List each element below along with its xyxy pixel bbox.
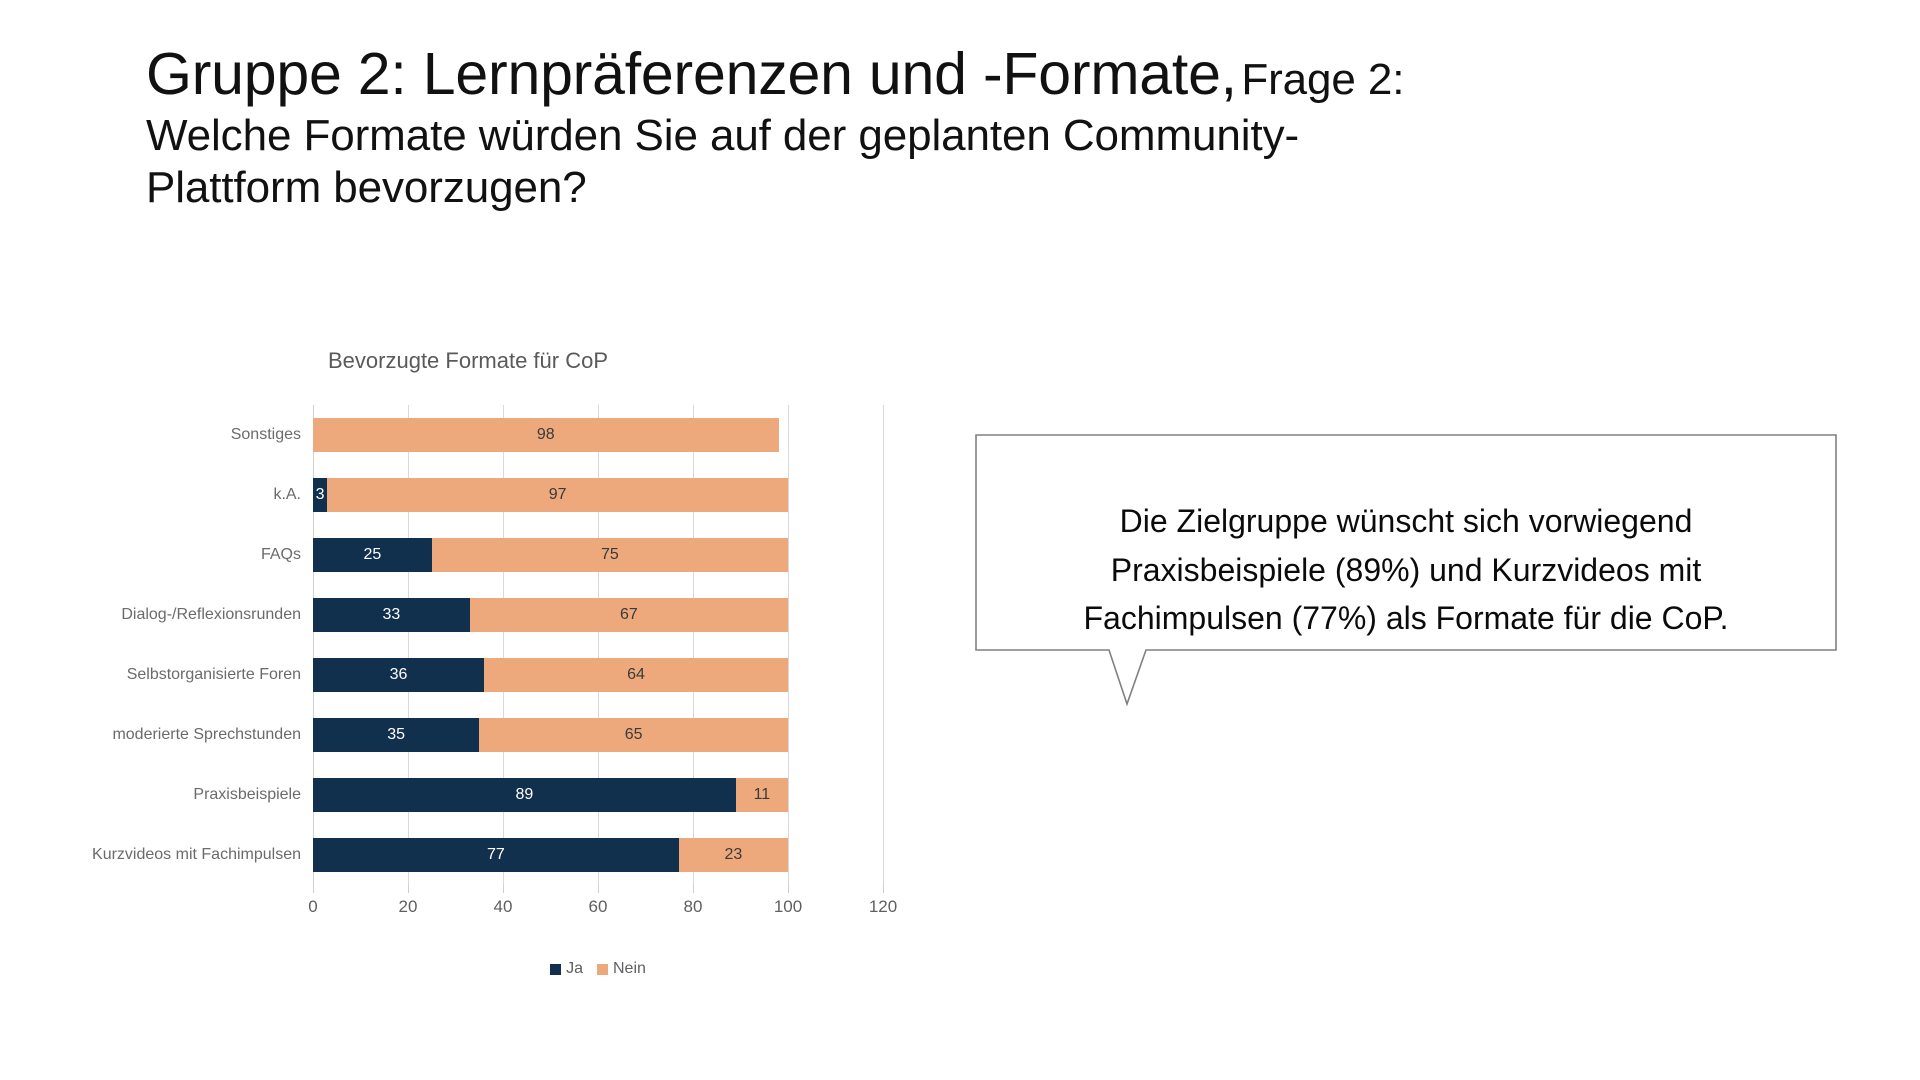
x-tick-label: 20 xyxy=(399,897,418,917)
legend-label: Ja xyxy=(566,960,583,978)
x-tick-mark xyxy=(693,885,694,893)
x-tick-label: 120 xyxy=(869,897,897,917)
bar-segment-ja[interactable]: 33 xyxy=(313,598,470,632)
bar-segment-ja[interactable]: 36 xyxy=(313,658,484,692)
bar-category-label: Dialog-/Reflexionsrunden xyxy=(121,606,301,624)
bar-value-label: 35 xyxy=(387,726,405,744)
bar-row[interactable]: Sonstiges098 xyxy=(313,418,883,452)
bar-value-label: 77 xyxy=(487,846,505,864)
bar-segment-nein[interactable]: 11 xyxy=(736,778,788,812)
bar-category-label: FAQs xyxy=(261,546,301,564)
title-line-3: Plattform bevorzugen? xyxy=(146,162,1786,214)
callout-box: Die Zielgruppe wünscht sich vorwiegend P… xyxy=(975,434,1837,714)
bar-row[interactable]: FAQs2575 xyxy=(313,538,883,572)
chart-title: Bevorzugte Formate für CoP xyxy=(328,348,608,374)
bar-category-label: Kurzvideos mit Fachimpulsen xyxy=(92,846,301,864)
bar-row[interactable]: Selbstorganisierte Foren3664 xyxy=(313,658,883,692)
bar-value-label: 23 xyxy=(724,846,742,864)
bar-row[interactable]: Praxisbeispiele8911 xyxy=(313,778,883,812)
x-tick-mark xyxy=(503,885,504,893)
bar-value-label: 97 xyxy=(549,486,567,504)
bar-value-label: 33 xyxy=(382,606,400,624)
bar-category-label: Praxisbeispiele xyxy=(193,786,301,804)
bar-segment-nein[interactable]: 65 xyxy=(479,718,788,752)
title-line-2: Welche Formate würden Sie auf der geplan… xyxy=(146,110,1786,162)
title-main-text: Gruppe 2: Lernpräferenzen und -Formate, xyxy=(146,41,1237,107)
bar-segment-nein[interactable]: 67 xyxy=(470,598,788,632)
legend-item-nein[interactable]: Nein xyxy=(597,960,646,978)
chart-plot-area: Sonstiges098k.A.397FAQs2575Dialog-/Refle… xyxy=(313,405,883,885)
gridline-40 xyxy=(503,405,504,885)
gridline-120 xyxy=(883,405,884,885)
bar-value-label: 3 xyxy=(316,486,325,504)
legend-item-ja[interactable]: Ja xyxy=(550,960,583,978)
callout-text: Die Zielgruppe wünscht sich vorwiegend P… xyxy=(1031,462,1781,678)
page-title: Gruppe 2: Lernpräferenzen und -Formate, … xyxy=(146,40,1786,213)
bar-row[interactable]: Dialog-/Reflexionsrunden3367 xyxy=(313,598,883,632)
callout-line-3: Fachimpulsen (77%) als Formate für die C… xyxy=(1083,594,1728,643)
gridline-60 xyxy=(598,405,599,885)
x-tick-label: 80 xyxy=(684,897,703,917)
x-tick-mark xyxy=(788,885,789,893)
bar-value-label: 65 xyxy=(625,726,643,744)
callout-line-1: Die Zielgruppe wünscht sich vorwiegend xyxy=(1120,497,1693,546)
x-tick-mark xyxy=(883,885,884,893)
x-tick-label: 0 xyxy=(308,897,317,917)
bar-segment-nein[interactable]: 98 xyxy=(313,418,779,452)
bar-row[interactable]: Kurzvideos mit Fachimpulsen7723 xyxy=(313,838,883,872)
bar-segment-ja[interactable]: 89 xyxy=(313,778,736,812)
gridline-100 xyxy=(788,405,789,885)
x-tick-mark xyxy=(598,885,599,893)
bar-segment-nein[interactable]: 23 xyxy=(679,838,788,872)
gridline-20 xyxy=(408,405,409,885)
x-tick-label: 100 xyxy=(774,897,802,917)
bar-value-label: 11 xyxy=(754,786,771,804)
bar-value-label: 67 xyxy=(620,606,638,624)
bar-value-label: 36 xyxy=(390,666,408,684)
gridline-0 xyxy=(313,405,314,885)
bar-row[interactable]: moderierte Sprechstunden3565 xyxy=(313,718,883,752)
legend-label: Nein xyxy=(613,960,646,978)
title-question-text: Frage 2: xyxy=(1241,55,1404,104)
x-tick-mark xyxy=(313,885,314,893)
bar-segment-nein[interactable]: 75 xyxy=(432,538,788,572)
x-tick-label: 60 xyxy=(589,897,608,917)
bar-category-label: k.A. xyxy=(273,486,301,504)
bar-value-label: 64 xyxy=(627,666,645,684)
bar-segment-nein[interactable]: 97 xyxy=(327,478,788,512)
bar-segment-ja[interactable]: 77 xyxy=(313,838,679,872)
bar-segment-ja[interactable]: 35 xyxy=(313,718,479,752)
x-tick-mark xyxy=(408,885,409,893)
gridline-80 xyxy=(693,405,694,885)
bar-category-label: moderierte Sprechstunden xyxy=(112,726,301,744)
bar-segment-ja[interactable]: 25 xyxy=(313,538,432,572)
bar-value-label: 75 xyxy=(601,546,619,564)
chart-x-axis: 020406080100120 xyxy=(313,885,883,925)
bar-row[interactable]: k.A.397 xyxy=(313,478,883,512)
callout-line-2: Praxisbeispiele (89%) und Kurzvideos mit xyxy=(1111,546,1701,595)
x-tick-label: 40 xyxy=(494,897,513,917)
bar-value-label: 98 xyxy=(537,426,555,444)
bar-segment-nein[interactable]: 64 xyxy=(484,658,788,692)
bar-chart: Bevorzugte Formate für CoP Sonstiges098k… xyxy=(60,330,950,1030)
bar-category-label: Sonstiges xyxy=(231,426,301,444)
bar-value-label: 25 xyxy=(363,546,381,564)
title-line-1: Gruppe 2: Lernpräferenzen und -Formate, … xyxy=(146,40,1786,110)
legend-swatch-icon xyxy=(550,964,561,975)
bar-category-label: Selbstorganisierte Foren xyxy=(127,666,301,684)
bar-segment-ja[interactable]: 3 xyxy=(313,478,327,512)
chart-legend: JaNein xyxy=(313,960,883,978)
legend-swatch-icon xyxy=(597,964,608,975)
bar-value-label: 89 xyxy=(515,786,533,804)
